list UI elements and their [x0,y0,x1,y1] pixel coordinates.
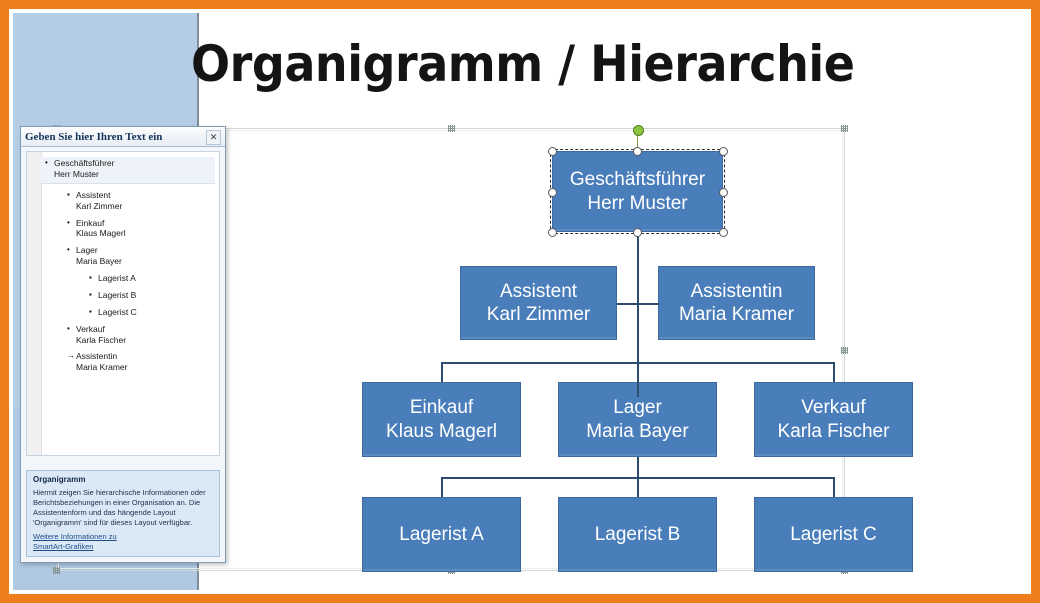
more-info-link-line1[interactable]: Weitere Informationen zu [33,532,213,542]
close-icon[interactable]: ✕ [206,130,221,145]
list-item-line2: Klaus Magerl [76,228,126,238]
bullet-icon: • [45,158,54,168]
list-item-label: Lagerist C [98,307,215,318]
list-item-label: Lagerist A [98,273,215,284]
list-item-line2: Karl Zimmer [76,201,122,211]
bullet-icon: ▪ [67,190,76,200]
placeholder-handle-top-middle[interactable] [448,125,455,132]
list-item-label: Einkauf Klaus Magerl [76,218,215,240]
list-item-label: Assistentin Maria Kramer [76,351,215,373]
text-pane-title: Geben Sie hier Ihren Text ein [25,131,162,143]
list-item-line1: Geschäftsführer [54,158,114,168]
list-item[interactable]: • Einkauf Klaus Magerl [67,218,215,240]
list-item-label: Lagerist B [98,290,215,301]
bullet-icon: • [67,245,76,255]
node-line1: Lager [613,396,662,419]
bullet-icon: ▪ [89,273,98,283]
list-item[interactable]: → Assistentin Maria Kramer [67,351,215,373]
node-line2: Maria Kramer [679,303,794,326]
placeholder-handle-middle-right[interactable] [841,347,848,354]
list-item-label: Lager Maria Bayer [76,245,215,267]
list-item-line1: Einkauf [76,218,104,228]
node-line1: Geschäftsführer [570,168,705,191]
list-item[interactable]: • Geschäftsführer Herr Muster [41,157,215,184]
list-item[interactable]: ▪ Assistent Karl Zimmer [67,190,215,212]
list-item-line2: Maria Kramer [76,362,127,372]
list-item-line1: Verkauf [76,324,105,334]
node-lager[interactable]: Lager Maria Bayer [558,382,717,457]
list-item-line1: Lager [76,245,98,255]
node-lagerist-b[interactable]: Lagerist B [558,497,717,572]
list-item-line2: Herr Muster [54,169,99,179]
node-geschaeftsfuehrer[interactable]: Geschäftsführer Herr Muster [552,151,723,232]
assistant-arrow-icon: → [67,351,76,361]
node-line1: Verkauf [801,396,865,419]
list-item[interactable]: • Lager Maria Bayer [67,245,215,267]
node-line1: Assistentin [691,280,783,303]
description-heading: Organigramm [33,475,213,486]
placeholder-handle-top-right[interactable] [841,125,848,132]
text-pane-header: Geben Sie hier Ihren Text ein ✕ [21,127,225,147]
bullet-icon: ▪ [89,307,98,317]
screenshot-root: Organigramm / Hierarchie [0,0,1040,603]
text-pane-description: Organigramm Hiermit zeigen Sie hierarchi… [26,470,220,557]
description-body: Hiermit zeigen Sie hierarchische Informa… [33,488,213,528]
list-item-line1: Assistent [76,190,111,200]
node-line1: Lagerist B [595,523,681,546]
node-verkauf[interactable]: Verkauf Karla Fischer [754,382,913,457]
bullet-icon: ▪ [89,290,98,300]
list-item-line1: Assistentin [76,351,117,361]
node-line1: Lagerist C [790,523,877,546]
node-line2: Klaus Magerl [386,420,497,443]
more-info-link-line2[interactable]: SmartArt-Grafiken [33,542,213,552]
page-title: Organigramm / Hierarchie [191,35,835,93]
list-item[interactable]: • Verkauf Karla Fischer [67,324,215,346]
list-item-label: Verkauf Karla Fischer [76,324,215,346]
node-line2: Karla Fischer [778,420,890,443]
slide-workspace: Organigramm / Hierarchie [13,13,1027,590]
node-line2: Maria Bayer [586,420,688,443]
node-line2: Karl Zimmer [487,303,590,326]
text-pane-list-area[interactable]: • Geschäftsführer Herr Muster ▪ Assisten… [26,151,220,456]
node-line2: Herr Muster [587,192,687,215]
node-line1: Einkauf [410,396,473,419]
list-item-line2: Maria Bayer [76,256,122,266]
node-line1: Assistent [500,280,577,303]
list-item[interactable]: ▪ Lagerist C [89,307,215,318]
node-assistent[interactable]: Assistent Karl Zimmer [460,266,617,340]
list-item-label: Geschäftsführer Herr Muster [54,158,215,180]
list-item[interactable]: ▪ Lagerist A [89,273,215,284]
placeholder-handle-bottom-left[interactable] [53,567,60,574]
bullet-icon: • [67,218,76,228]
list-item-line2: Karla Fischer [76,335,126,345]
bullet-icon: • [67,324,76,334]
list-item[interactable]: ▪ Lagerist B [89,290,215,301]
text-pane-list[interactable]: • Geschäftsführer Herr Muster ▪ Assisten… [41,152,219,455]
node-lagerist-c[interactable]: Lagerist C [754,497,913,572]
node-einkauf[interactable]: Einkauf Klaus Magerl [362,382,521,457]
list-item-label: Assistent Karl Zimmer [76,190,215,212]
node-assistentin[interactable]: Assistentin Maria Kramer [658,266,815,340]
text-pane-gutter [27,152,42,455]
smartart-text-pane[interactable]: Geben Sie hier Ihren Text ein ✕ • Geschä… [20,126,226,563]
node-lagerist-a[interactable]: Lagerist A [362,497,521,572]
node-line1: Lagerist A [399,523,484,546]
